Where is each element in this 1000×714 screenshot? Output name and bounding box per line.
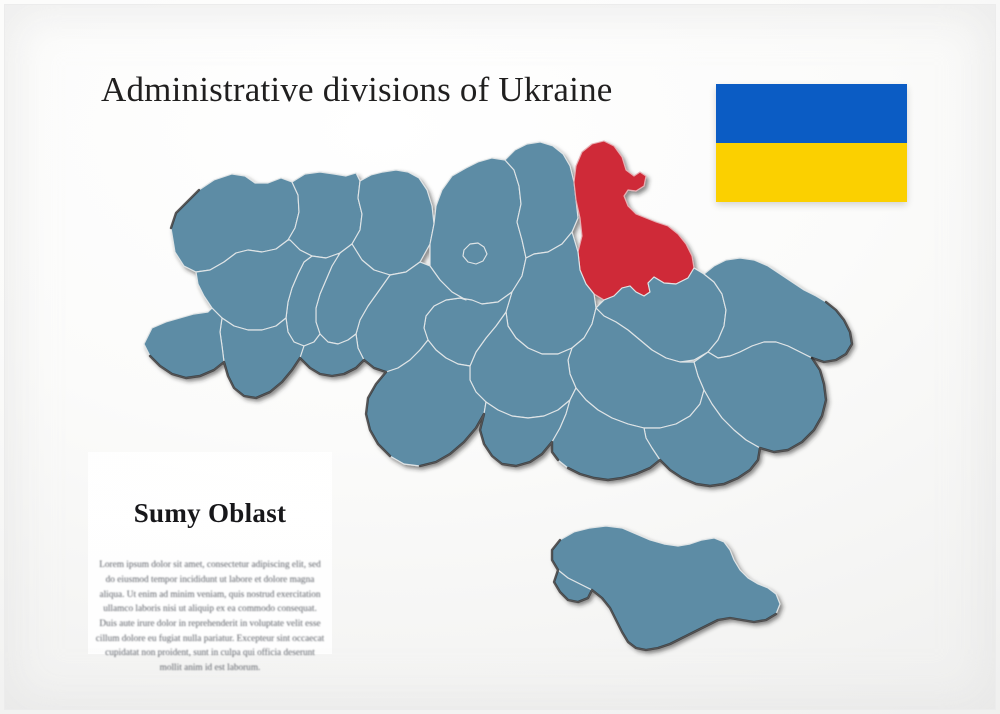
page-title: Administrative divisions of Ukraine — [101, 71, 613, 110]
oblast-info-panel: Sumy Oblast Lorem ipsum dolor sit amet, … — [88, 452, 332, 654]
region-zakarpattia[interactable] — [144, 308, 224, 378]
poster-canvas: Administrative divisions of Ukraine Sumy… — [0, 0, 1000, 714]
region-sumy-oblast[interactable] — [574, 141, 694, 300]
region-zhytomyr[interactable] — [352, 170, 434, 275]
flag-bottom-band — [716, 143, 907, 202]
oblast-name-heading: Sumy Oblast — [88, 498, 332, 529]
region-kyiv-oblast[interactable] — [430, 158, 526, 304]
flag-top-band — [716, 84, 907, 143]
oblast-description-text: Lorem ipsum dolor sit amet, consectetur … — [94, 557, 327, 675]
flag-of-ukraine-icon — [716, 84, 907, 202]
